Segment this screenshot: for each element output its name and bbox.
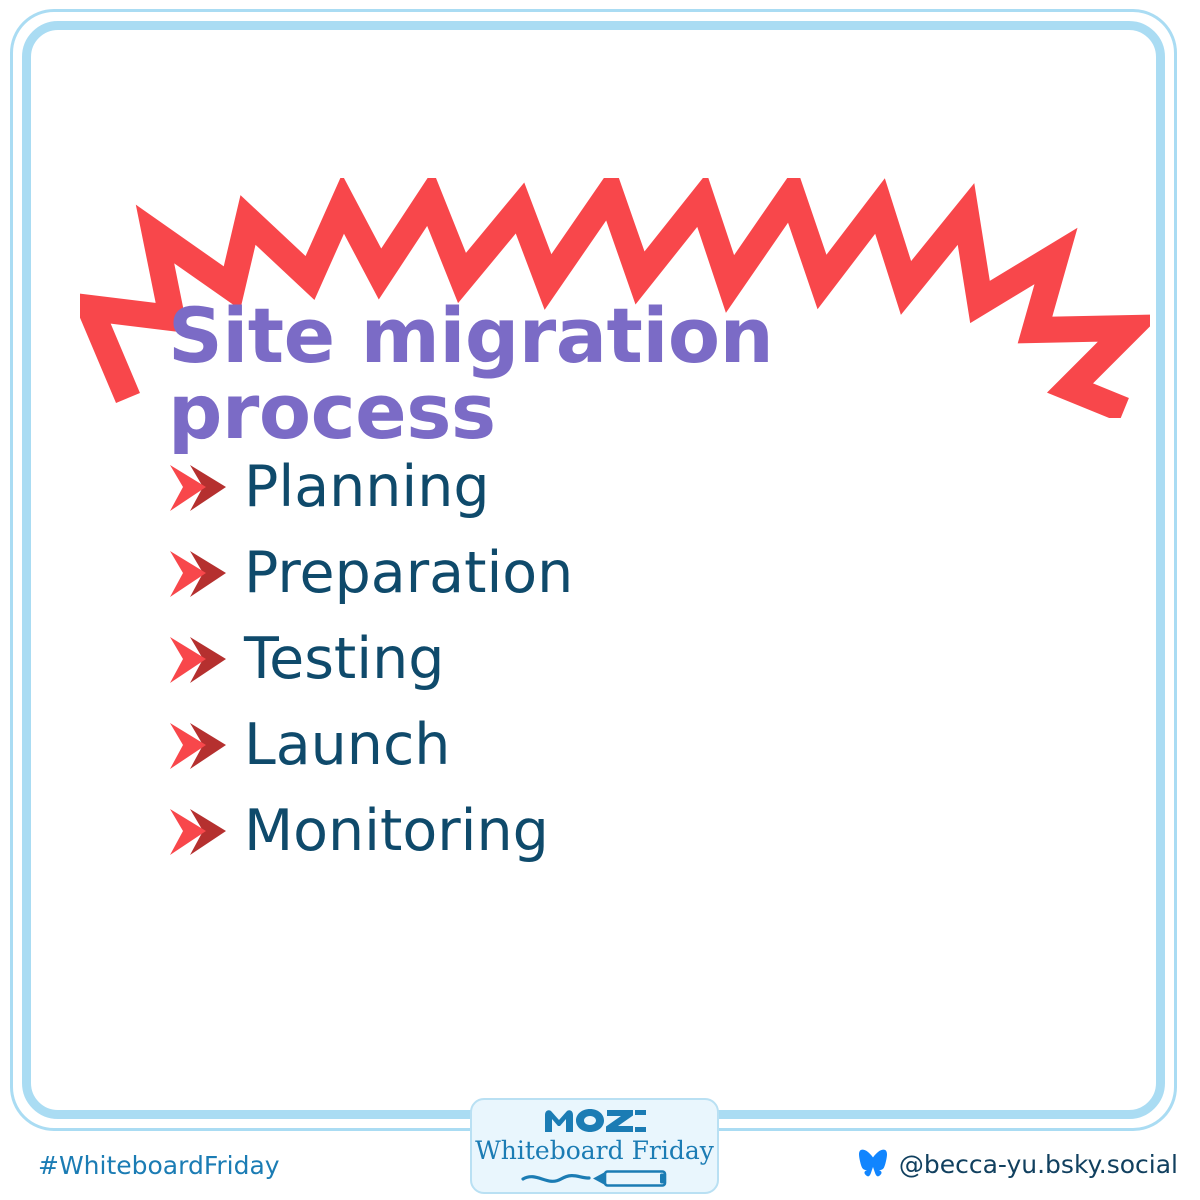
double-chevron-right-icon <box>168 549 230 599</box>
list-item: Launch <box>168 703 1068 789</box>
double-chevron-right-icon <box>168 635 230 685</box>
list-item-label: Preparation <box>244 544 573 604</box>
list-item: Preparation <box>168 531 1068 617</box>
steps-list: Planning Preparation Testing Launch <box>168 445 1068 875</box>
list-item-label: Planning <box>244 458 490 518</box>
social-handle-text: @becca-yu.bsky.social <box>899 1150 1178 1179</box>
marker-squiggle-icon <box>517 1167 673 1191</box>
list-item-label: Launch <box>244 716 450 776</box>
moz-wordmark-logo <box>543 1108 647 1134</box>
moz-whiteboard-friday-badge[interactable]: Whiteboard Friday <box>470 1098 719 1194</box>
social-handle[interactable]: @becca-yu.bsky.social <box>859 1149 1178 1179</box>
page-title: Site migration process <box>168 298 1068 450</box>
hashtag-label: #WhiteboardFriday <box>38 1151 280 1180</box>
bluesky-butterfly-icon <box>859 1149 893 1179</box>
double-chevron-right-icon <box>168 721 230 771</box>
double-chevron-right-icon <box>168 463 230 513</box>
title-block: Site migration process <box>80 178 1150 418</box>
double-chevron-right-icon <box>168 807 230 857</box>
badge-subtitle: Whiteboard Friday <box>475 1136 714 1165</box>
whiteboard-slide: Site migration process Planning Preparat… <box>0 0 1200 1200</box>
list-item: Testing <box>168 617 1068 703</box>
list-item-label: Monitoring <box>244 802 549 862</box>
list-item: Planning <box>168 445 1068 531</box>
list-item: Monitoring <box>168 789 1068 875</box>
list-item-label: Testing <box>244 630 444 690</box>
